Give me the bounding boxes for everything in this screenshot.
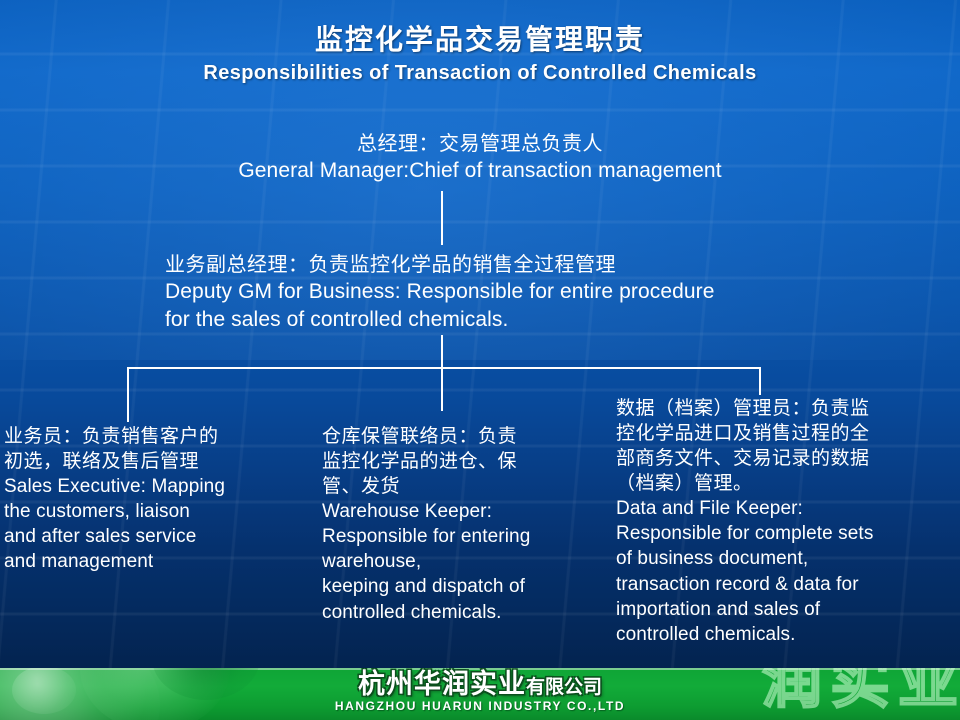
slide-title-chinese: 监控化学品交易管理职责 [0,22,960,57]
org-node-warehouse-keeper: 仓库保管联络员：负责 监控化学品的进仓、保 管、发货 Warehouse Kee… [322,424,607,625]
sales-english-line4: and management [4,549,304,574]
org-node-sales-executive: 业务员：负责销售客户的 初选，联络及售后管理 Sales Executive: … [4,424,304,574]
datafile-english-line2: Responsible for complete sets [616,521,956,546]
company-name-english: HANGZHOU HUARUN INDUSTRY CO.,LTD [0,699,960,713]
warehouse-english-line2: Responsible for entering [322,524,607,549]
slide-title-block: 监控化学品交易管理职责 Responsibilities of Transact… [0,22,960,86]
connector-branch-left [127,367,129,422]
datafile-english-line4: transaction record & data for [616,572,956,597]
org-node-deputy-gm: 业务副总经理：负责监控化学品的销售全过程管理 Deputy GM for Bus… [165,252,845,334]
warehouse-chinese-line3: 管、发货 [322,474,607,499]
warehouse-english-line5: controlled chemicals. [322,600,607,625]
datafile-chinese-line1: 数据（档案）管理员：负责监 [616,396,956,421]
datafile-chinese-line4: （档案）管理。 [616,471,956,496]
connector-deputy-to-center-branch [441,335,443,411]
datafile-chinese-line2: 控化学品进口及销售过程的全 [616,421,956,446]
warehouse-chinese-line2: 监控化学品的进仓、保 [322,449,607,474]
org-node-data-file-keeper: 数据（档案）管理员：负责监 控化学品进口及销售过程的全 部商务文件、交易记录的数… [616,396,956,647]
datafile-english-line1: Data and File Keeper: [616,496,956,521]
org-node-general-manager: 总经理：交易管理总负责人 General Manager:Chief of tr… [0,131,960,185]
connector-horizontal-bus [127,367,761,369]
gm-label-chinese: 总经理：交易管理总负责人 [0,131,960,157]
company-name-chinese-suffix: 有限公司 [526,677,602,698]
sales-chinese-line2: 初选，联络及售后管理 [4,449,304,474]
warehouse-english-line4: keeping and dispatch of [322,574,607,599]
connector-branch-right [759,367,761,395]
sales-english-line3: and after sales service [4,524,304,549]
company-name-chinese-main: 杭州华润实业 [358,669,526,699]
warehouse-english-line3: warehouse, [322,549,607,574]
footer-company-banner: 润实业 杭州华润实业有限公司 HANGZHOU HUARUN INDUSTRY … [0,668,960,720]
deputy-label-english-line1: Deputy GM for Business: Responsible for … [165,278,845,306]
sales-english-line2: the customers, liaison [4,499,304,524]
slide-canvas: 监控化学品交易管理职责 Responsibilities of Transact… [0,0,960,720]
datafile-chinese-line3: 部商务文件、交易记录的数据 [616,446,956,471]
sales-chinese-line1: 业务员：负责销售客户的 [4,424,304,449]
sales-english-line1: Sales Executive: Mapping [4,474,304,499]
datafile-english-line5: importation and sales of [616,597,956,622]
deputy-label-chinese: 业务副总经理：负责监控化学品的销售全过程管理 [165,252,845,278]
company-name-chinese: 杭州华润实业有限公司 [0,670,960,698]
company-logo: 杭州华润实业有限公司 HANGZHOU HUARUN INDUSTRY CO.,… [0,668,960,713]
deputy-label-english-line2: for the sales of controlled chemicals. [165,306,845,334]
warehouse-chinese-line1: 仓库保管联络员：负责 [322,424,607,449]
datafile-english-line3: of business document, [616,546,956,571]
warehouse-english-line1: Warehouse Keeper: [322,499,607,524]
datafile-english-line6: controlled chemicals. [616,622,956,647]
connector-gm-to-deputy [441,191,443,245]
gm-label-english: General Manager:Chief of transaction man… [0,157,960,185]
slide-title-english: Responsibilities of Transaction of Contr… [0,60,960,86]
